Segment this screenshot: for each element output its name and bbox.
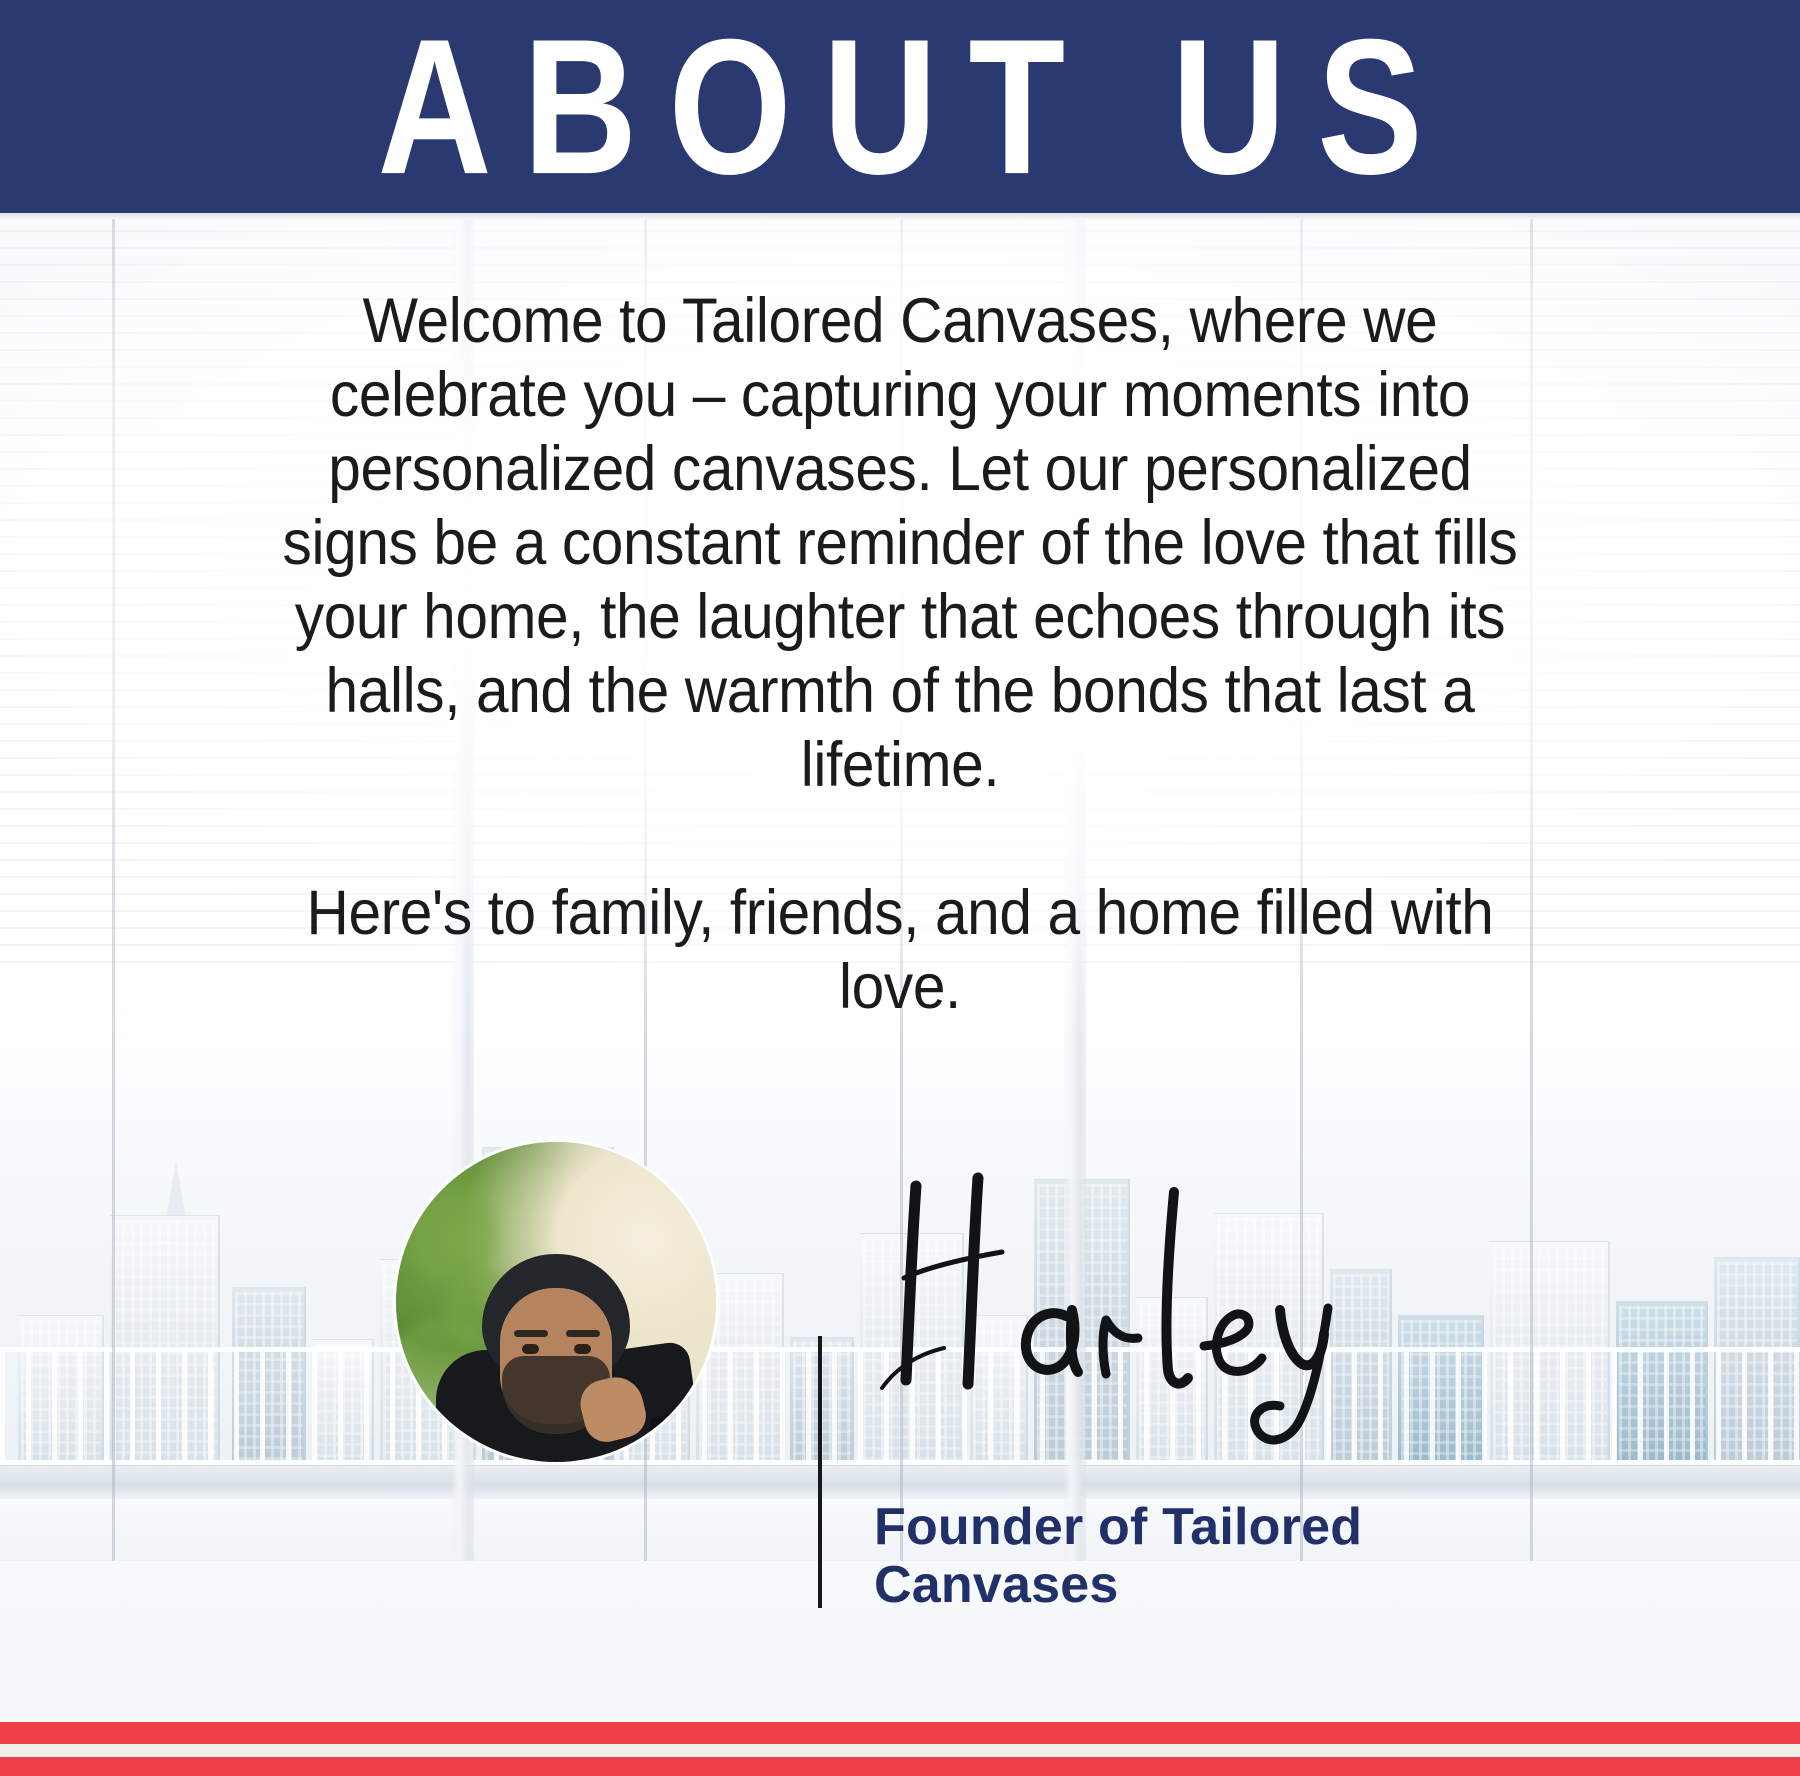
about-paragraph-2: Here's to family, friends, and a home fi… xyxy=(258,876,1541,1024)
about-copy: Welcome to Tailored Canvases, where we c… xyxy=(258,284,1541,1024)
avatar-eye xyxy=(574,1344,591,1354)
footer-stripe-gap xyxy=(0,1744,1800,1757)
signature-harley xyxy=(852,1148,1472,1408)
foliage-bokeh xyxy=(402,1186,498,1282)
footer-stripe-top xyxy=(0,1722,1800,1744)
header-underline xyxy=(0,213,1800,219)
avatar-brow xyxy=(566,1330,600,1337)
paragraph-spacer xyxy=(258,802,1541,876)
avatar-eye xyxy=(522,1344,539,1354)
founder-role: Founder of Tailored Canvases xyxy=(874,1498,1494,1614)
avatar xyxy=(396,1142,716,1462)
signature-divider xyxy=(818,1336,822,1608)
footer-stripe-bottom xyxy=(0,1757,1800,1776)
founder-role-line-2: Canvases xyxy=(874,1556,1494,1614)
about-us-poster: ABOUT US Welcome to Tailored Canvases, w… xyxy=(0,0,1800,1776)
page-title: ABOUT US xyxy=(346,10,1454,203)
founder-role-line-1: Founder of Tailored xyxy=(874,1498,1494,1556)
header-bar: ABOUT US xyxy=(0,0,1800,213)
about-paragraph-1: Welcome to Tailored Canvases, where we c… xyxy=(258,284,1541,802)
avatar-brow xyxy=(514,1330,548,1337)
